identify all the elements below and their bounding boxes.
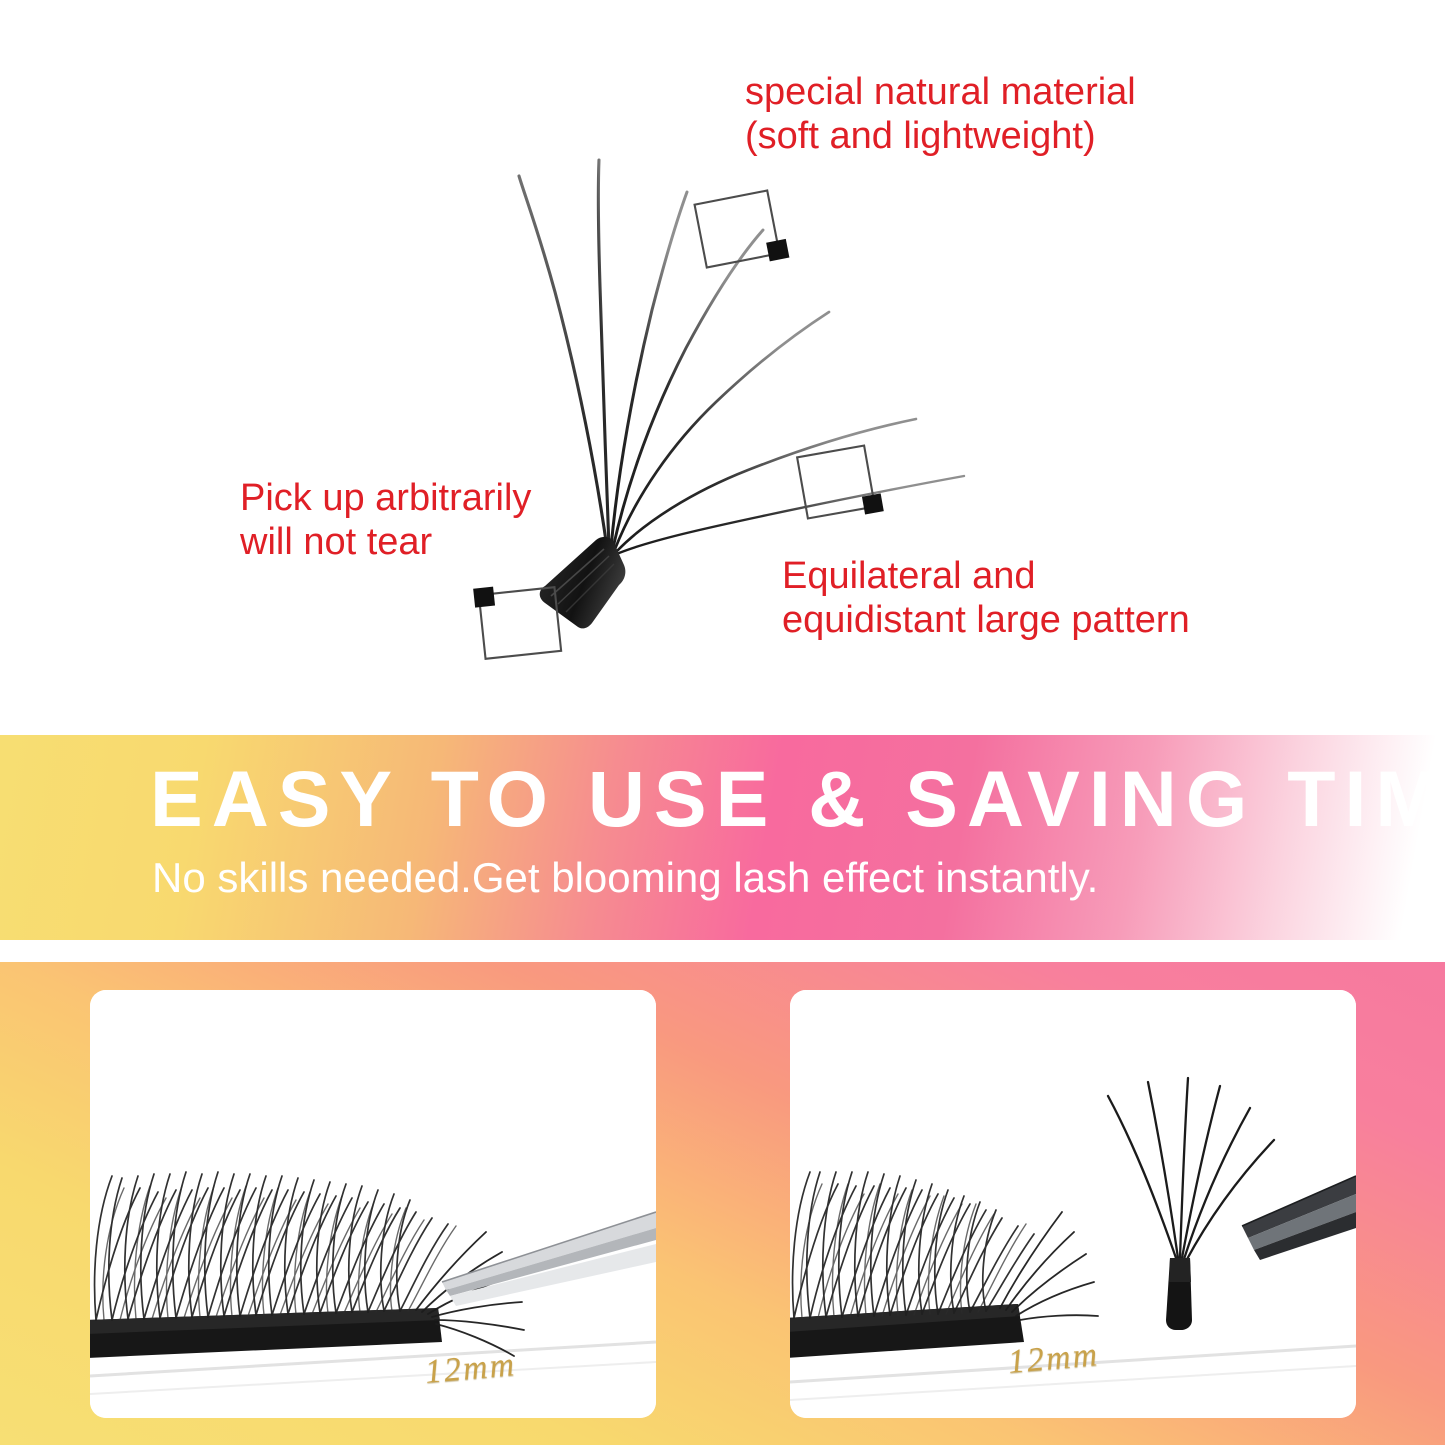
product-infographic: special natural material (soft and light…: [0, 0, 1445, 1445]
promo-banner-inner: EASY TO USE & SAVING TIME No skills need…: [0, 735, 1445, 940]
lash-base: [540, 537, 626, 629]
size-label-12mm: 12mm: [424, 1346, 518, 1392]
lash-fan-diagram: [0, 0, 1445, 733]
callout-special-natural-material: special natural material (soft and light…: [745, 70, 1136, 158]
banner-subheadline: No skills needed.Get blooming lash effec…: [152, 857, 1382, 899]
size-label-12mm: 12mm: [1007, 1336, 1101, 1382]
bottom-photo-section: 12mm: [0, 962, 1445, 1445]
zoom-marker-square: [695, 189, 790, 274]
photo-card-lash-tray-tweezer: 12mm: [90, 990, 656, 1418]
top-diagram-section: special natural material (soft and light…: [0, 0, 1445, 733]
promo-banner: EASY TO USE & SAVING TIME No skills need…: [0, 735, 1445, 940]
lash-strands: [519, 160, 964, 553]
callout-pick-up-arbitrarily: Pick up arbitrarily will not tear: [240, 476, 531, 564]
zoom-marker-square: [797, 444, 884, 524]
photo-card-lash-fan-lifted: 12mm: [790, 990, 1356, 1418]
banner-headline: EASY TO USE & SAVING TIME: [150, 759, 1380, 838]
lash-tray-photo: [90, 990, 656, 1418]
callout-equilateral-equidistant: Equilateral and equidistant large patter…: [782, 554, 1190, 642]
